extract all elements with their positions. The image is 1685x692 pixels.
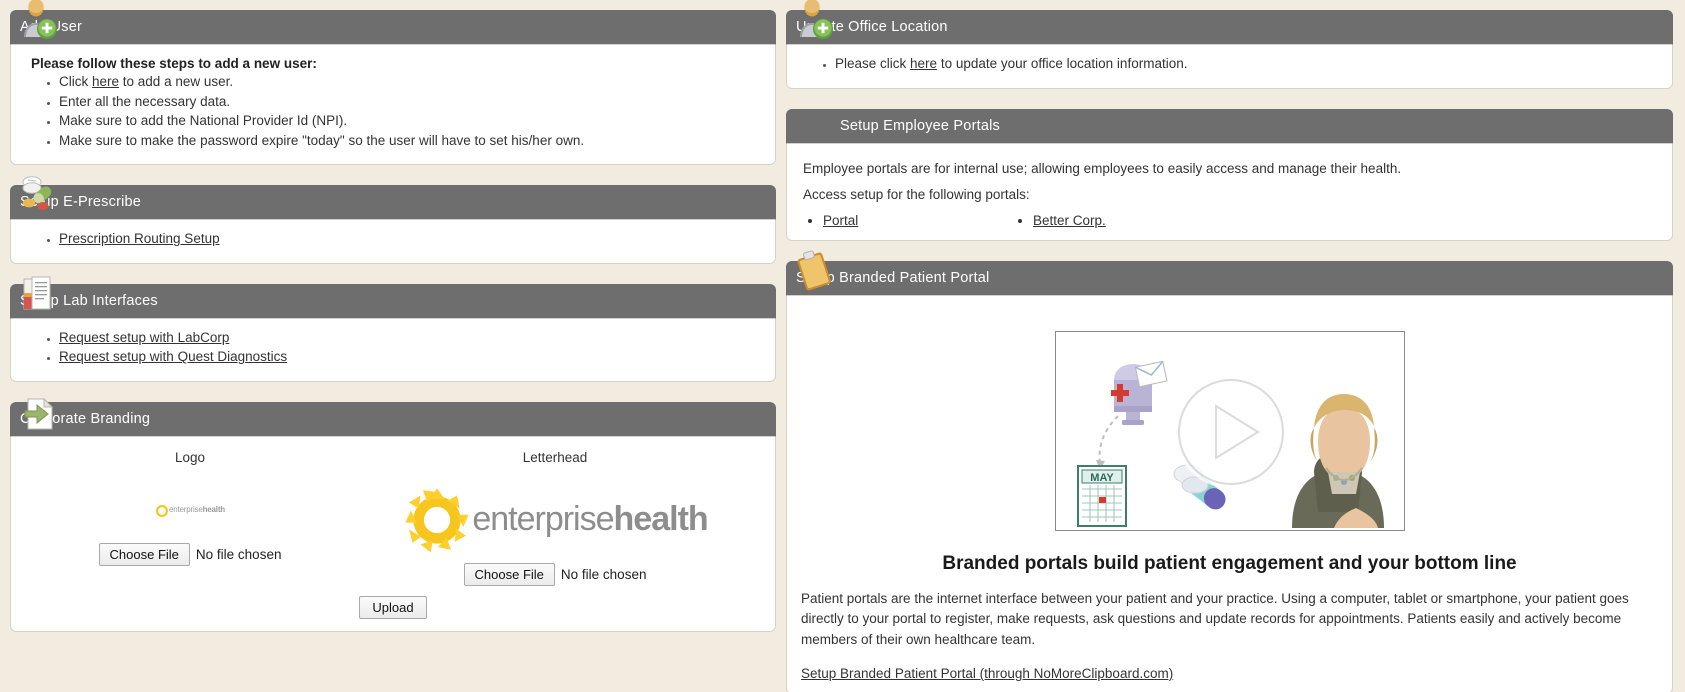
panel-body-branding: Logo enterprisehealth Choose File No xyxy=(10,436,776,632)
setup-dashboard: Add User Please follow these steps to ad… xyxy=(0,0,1685,692)
portal-column-1: Portal xyxy=(801,213,1011,228)
letterhead-column: Letterhead xyxy=(355,450,755,586)
list-item: Make sure to add the National Provider I… xyxy=(59,111,761,131)
branded-portal-headline: Branded portals build patient engagement… xyxy=(801,553,1658,575)
list-item: Request setup with Quest Diagnostics xyxy=(59,347,761,367)
list-item: Portal xyxy=(823,213,1011,228)
letterhead-choose-file-button[interactable]: Choose File xyxy=(464,563,555,586)
request-setup-labcorp-link[interactable]: Request setup with LabCorp xyxy=(59,330,229,345)
panel-body-branded-portal: MAY xyxy=(786,295,1673,692)
setup-branded-patient-portal-link[interactable]: Setup Branded Patient Portal (through No… xyxy=(801,666,1173,681)
letterhead-file-row: Choose File No file chosen xyxy=(355,563,755,586)
employee-portals-intro: Employee portals are for internal use; a… xyxy=(803,159,1656,179)
video-thumbnail-graphic: MAY xyxy=(1056,332,1405,531)
enterprise-health-logo-large xyxy=(402,483,472,557)
letterhead-label: Letterhead xyxy=(355,450,755,465)
panel-update-office-location: Update Office Location Please click here… xyxy=(786,10,1673,89)
panel-setup-lab-interfaces: Setup Lab Interfaces Request setup with … xyxy=(10,284,776,382)
panel-header-branding: Corporate Branding xyxy=(10,402,776,436)
logo-file-row: Choose File No file chosen xyxy=(25,543,355,566)
panel-title-lab: Setup Lab Interfaces xyxy=(20,293,158,309)
panel-add-user: Add User Please follow these steps to ad… xyxy=(10,10,776,165)
enterprise-health-logo-small xyxy=(155,502,169,518)
add-user-steps: Click here to add a new user. Enter all … xyxy=(25,72,761,150)
panel-body-eprescribe: Prescription Routing Setup xyxy=(10,219,776,264)
add-user-here-link[interactable]: here xyxy=(92,74,119,89)
list-item: Please click here to update your office … xyxy=(835,54,1658,74)
employee-portals-list: Portal Better Corp. xyxy=(801,213,1658,228)
letterhead-preview: enterprisehealth xyxy=(355,477,755,563)
letterhead-wordmark-light: enterprise xyxy=(472,500,613,539)
panel-body-add-user: Please follow these steps to add a new u… xyxy=(10,44,776,165)
office-location-list: Please click here to update your office … xyxy=(801,54,1658,74)
eprescribe-links: Prescription Routing Setup xyxy=(25,229,761,249)
upload-button[interactable]: Upload xyxy=(359,596,426,619)
list-item: Prescription Routing Setup xyxy=(59,229,761,249)
panel-body-office: Please click here to update your office … xyxy=(786,44,1673,89)
lab-links: Request setup with LabCorp Request setup… xyxy=(25,328,761,367)
panel-header-branded-portal: Setup Branded Patient Portal xyxy=(786,261,1673,295)
office-text-after: to update your office location informati… xyxy=(937,56,1187,71)
panel-title-office: Update Office Location xyxy=(796,19,948,35)
logo-choose-file-button[interactable]: Choose File xyxy=(99,543,190,566)
panel-title-branding: Corporate Branding xyxy=(20,411,150,427)
portal-column-2: Better Corp. xyxy=(1011,213,1106,228)
branded-portal-cta-row: Setup Branded Patient Portal (through No… xyxy=(801,666,1658,681)
add-user-lead: Please follow these steps to add a new u… xyxy=(31,56,761,71)
upload-row: Upload xyxy=(25,596,761,619)
list-item: Request setup with LabCorp xyxy=(59,328,761,348)
panel-setup-employee-portals: Setup Employee Portals Employee portals … xyxy=(786,109,1673,242)
calendar-month-label: MAY xyxy=(1090,472,1114,484)
panel-header-office: Update Office Location xyxy=(786,10,1673,44)
letterhead-file-name: No file chosen xyxy=(561,567,647,582)
branded-portal-paragraph: Patient portals are the internet interfa… xyxy=(801,589,1658,650)
list-item: Make sure to make the password expire "t… xyxy=(59,131,761,151)
list-item: Better Corp. xyxy=(1033,213,1106,228)
panel-header-eprescribe: Setup E-Prescribe xyxy=(10,185,776,219)
calendar-icon: MAY xyxy=(1078,466,1126,526)
better-corp-link[interactable]: Better Corp. xyxy=(1033,213,1106,228)
step-text-before: Click xyxy=(59,74,92,89)
portal-link[interactable]: Portal xyxy=(823,213,858,228)
panel-header-add-user: Add User xyxy=(10,10,776,44)
right-column: Update Office Location Please click here… xyxy=(786,0,1685,692)
panel-body-lab: Request setup with LabCorp Request setup… xyxy=(10,318,776,382)
logo-preview: enterprisehealth xyxy=(25,477,355,543)
panel-body-employee-portals: Employee portals are for internal use; a… xyxy=(786,143,1673,242)
logo-wordmark-light: enterprise xyxy=(169,505,203,514)
panel-title-add-user: Add User xyxy=(20,19,82,35)
panel-corporate-branding: Corporate Branding Logo enterprisehealth xyxy=(10,402,776,632)
logo-wordmark-bold: health xyxy=(203,505,225,514)
logo-file-name: No file chosen xyxy=(196,547,282,562)
branded-portal-video-thumbnail[interactable]: MAY xyxy=(1055,331,1405,531)
branding-columns: Logo enterprisehealth Choose File No xyxy=(25,450,761,586)
panel-title-branded-portal: Setup Branded Patient Portal xyxy=(796,270,989,286)
video-wrapper: MAY xyxy=(801,331,1658,531)
prescription-routing-setup-link[interactable]: Prescription Routing Setup xyxy=(59,231,220,246)
panel-setup-branded-patient-portal: Setup Branded Patient Portal xyxy=(786,261,1673,692)
panel-setup-eprescribe: Setup E-Prescribe Prescription Routing S… xyxy=(10,185,776,264)
request-setup-quest-link[interactable]: Request setup with Quest Diagnostics xyxy=(59,349,287,364)
letterhead-wordmark-bold: health xyxy=(614,500,708,539)
office-text-before: Please click xyxy=(835,56,910,71)
step-text-after: to add a new user. xyxy=(119,74,233,89)
logo-column: Logo enterprisehealth Choose File No xyxy=(25,450,355,586)
logo-label: Logo xyxy=(25,450,355,465)
list-item: Enter all the necessary data. xyxy=(59,92,761,112)
employee-portals-access-label: Access setup for the following portals: xyxy=(803,185,1656,205)
panel-title-eprescribe: Setup E-Prescribe xyxy=(20,194,141,210)
left-column: Add User Please follow these steps to ad… xyxy=(0,0,786,692)
office-here-link[interactable]: here xyxy=(910,56,937,71)
panel-header-employee-portals: Setup Employee Portals xyxy=(786,109,1673,143)
list-item: Click here to add a new user. xyxy=(59,72,761,92)
panel-header-lab: Setup Lab Interfaces xyxy=(10,284,776,318)
panel-title-employee-portals: Setup Employee Portals xyxy=(840,118,1000,134)
